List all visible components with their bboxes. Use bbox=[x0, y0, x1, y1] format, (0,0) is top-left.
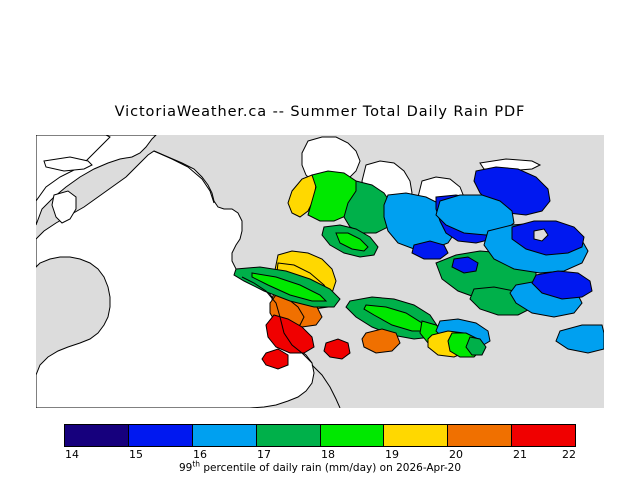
colorbar-segment-19-20[interactable] bbox=[384, 425, 448, 446]
colorbar-segment-14-15[interactable] bbox=[65, 425, 129, 446]
colorbar-tick-19: 19 bbox=[385, 448, 399, 461]
caption-ordinal-suffix: th bbox=[192, 460, 200, 469]
colorbar-tick-18: 18 bbox=[321, 448, 335, 461]
colorbar-segment-21-22[interactable] bbox=[512, 425, 575, 446]
map-panel bbox=[36, 135, 604, 408]
colorbar-legend: 141516171819202122 99th percentile of da… bbox=[0, 424, 640, 480]
colorbar-segment-18-19[interactable] bbox=[321, 425, 385, 446]
colorbar-tick-14: 14 bbox=[65, 448, 79, 461]
caption-number: 99 bbox=[179, 462, 192, 474]
page-title: VictoriaWeather.ca -- Summer Total Daily… bbox=[0, 104, 640, 120]
colorbar-segment-20-21[interactable] bbox=[448, 425, 512, 446]
colorbar-segment-16-17[interactable] bbox=[193, 425, 257, 446]
colorbar-segment-15-16[interactable] bbox=[129, 425, 193, 446]
colorbar-tick-labels: 141516171819202122 bbox=[64, 448, 576, 462]
rain-contour-map bbox=[36, 135, 604, 408]
colorbar-gradient[interactable] bbox=[64, 424, 576, 447]
caption-text: percentile of daily rain (mm/day) on 202… bbox=[200, 462, 461, 474]
colorbar-caption: 99th percentile of daily rain (mm/day) o… bbox=[0, 462, 640, 474]
colorbar-tick-22: 22 bbox=[562, 448, 576, 461]
colorbar-tick-15: 15 bbox=[129, 448, 143, 461]
colorbar-segment-17-18[interactable] bbox=[257, 425, 321, 446]
small-island-orange bbox=[362, 329, 400, 353]
colorbar-tick-21: 21 bbox=[513, 448, 527, 461]
colorbar-tick-17: 17 bbox=[257, 448, 271, 461]
colorbar-tick-20: 20 bbox=[449, 448, 463, 461]
